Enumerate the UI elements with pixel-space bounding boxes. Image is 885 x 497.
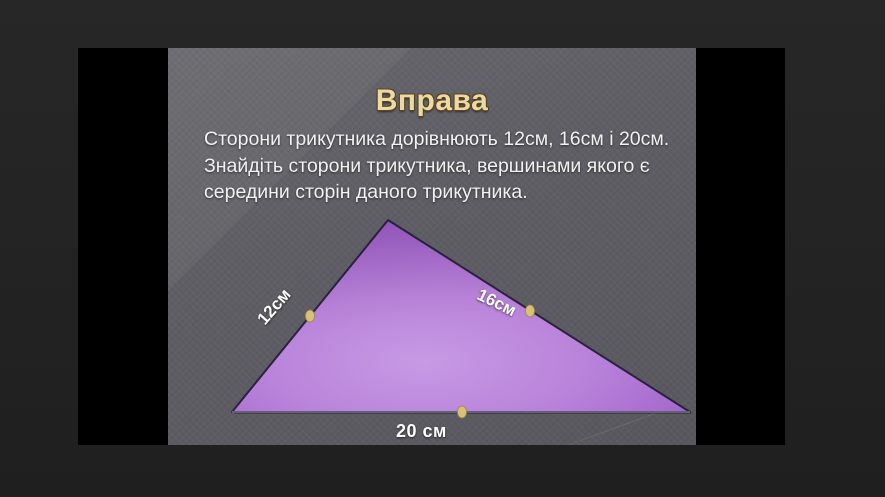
side-label-bottom: 20 см xyxy=(396,421,447,442)
presentation-slide[interactable]: Вправа Сторони трикутника дорівнюють 12с… xyxy=(168,48,696,445)
slide-highlight-streak-secondary xyxy=(517,398,696,445)
presentation-viewer: Вправа Сторони трикутника дорівнюють 12с… xyxy=(0,0,885,497)
slide-title: Вправа xyxy=(168,84,696,118)
triangle-shape xyxy=(232,220,690,412)
midpoint-dot-bottom-side xyxy=(457,406,466,418)
midpoint-dot-left-side xyxy=(305,310,314,322)
slide-highlight-streak xyxy=(448,433,696,445)
triangle-shading xyxy=(232,220,690,412)
side-label-left: 12см xyxy=(253,285,295,329)
slide-body-text: Сторони трикутника дорівнюють 12см, 16см… xyxy=(204,126,676,206)
midpoint-dot-right-side xyxy=(525,305,534,317)
triangle-shadow xyxy=(234,222,692,414)
side-label-right: 16см xyxy=(474,285,520,321)
